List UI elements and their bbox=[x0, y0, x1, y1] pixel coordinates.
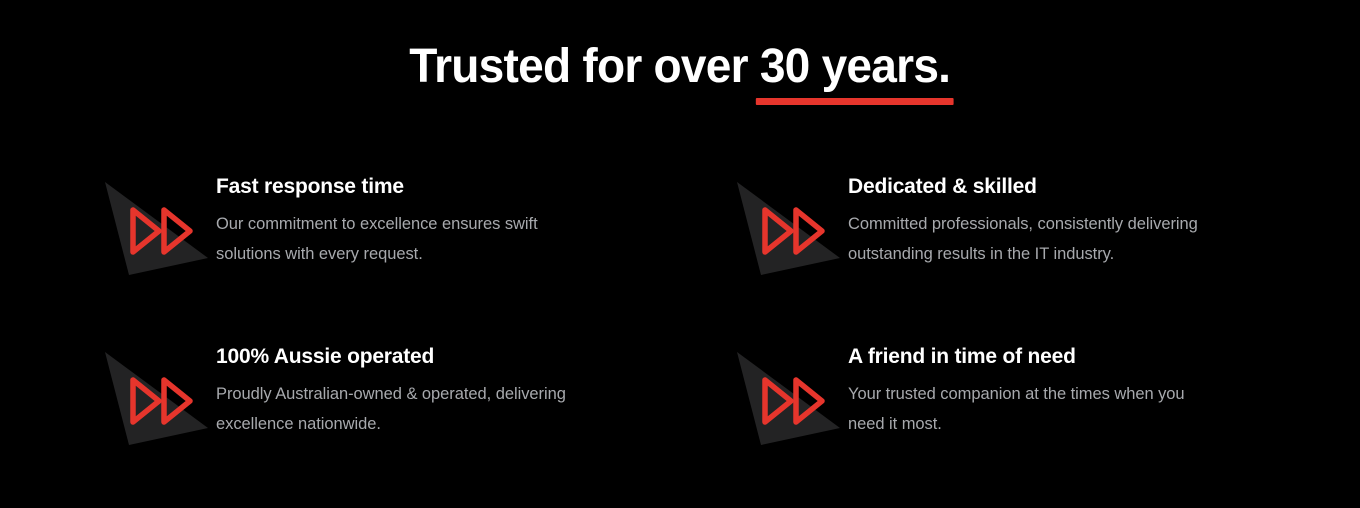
feature-item-friend-in-need: A friend in time of need Your trusted co… bbox=[728, 338, 1282, 508]
feature-text-block: Dedicated & skilled Committed profession… bbox=[848, 168, 1220, 269]
feature-title: Dedicated & skilled bbox=[848, 174, 1220, 200]
feature-item-fast-response: Fast response time Our commitment to exc… bbox=[96, 168, 728, 338]
feature-title: A friend in time of need bbox=[848, 344, 1220, 370]
feature-description: Our commitment to excellence ensures swi… bbox=[216, 209, 584, 269]
feature-title: Fast response time bbox=[216, 174, 584, 200]
heading-text: Trusted for over 30 years. bbox=[410, 38, 951, 96]
feature-text-block: 100% Aussie operated Proudly Australian-… bbox=[216, 338, 584, 439]
heading-accent-label: 30 years. bbox=[760, 40, 950, 93]
heading-underline bbox=[756, 98, 954, 105]
fast-forward-icon bbox=[728, 170, 848, 282]
heading-lead: Trusted for over bbox=[410, 40, 761, 93]
feature-item-dedicated-skilled: Dedicated & skilled Committed profession… bbox=[728, 168, 1282, 338]
feature-text-block: Fast response time Our commitment to exc… bbox=[216, 168, 584, 269]
fast-forward-icon bbox=[96, 170, 216, 282]
fast-forward-icon bbox=[96, 340, 216, 452]
heading-accent: 30 years. bbox=[760, 38, 950, 96]
feature-item-aussie-operated: 100% Aussie operated Proudly Australian-… bbox=[96, 338, 728, 508]
feature-grid: Fast response time Our commitment to exc… bbox=[96, 168, 1282, 508]
fast-forward-icon bbox=[728, 340, 848, 452]
trusted-years-section: Trusted for over 30 years. Fast response… bbox=[0, 0, 1360, 500]
feature-text-block: A friend in time of need Your trusted co… bbox=[848, 338, 1220, 439]
page-title: Trusted for over 30 years. bbox=[0, 38, 1360, 96]
feature-title: 100% Aussie operated bbox=[216, 344, 584, 370]
feature-description: Your trusted companion at the times when… bbox=[848, 379, 1220, 439]
feature-description: Committed professionals, consistently de… bbox=[848, 209, 1220, 269]
feature-description: Proudly Australian-owned & operated, del… bbox=[216, 379, 584, 439]
